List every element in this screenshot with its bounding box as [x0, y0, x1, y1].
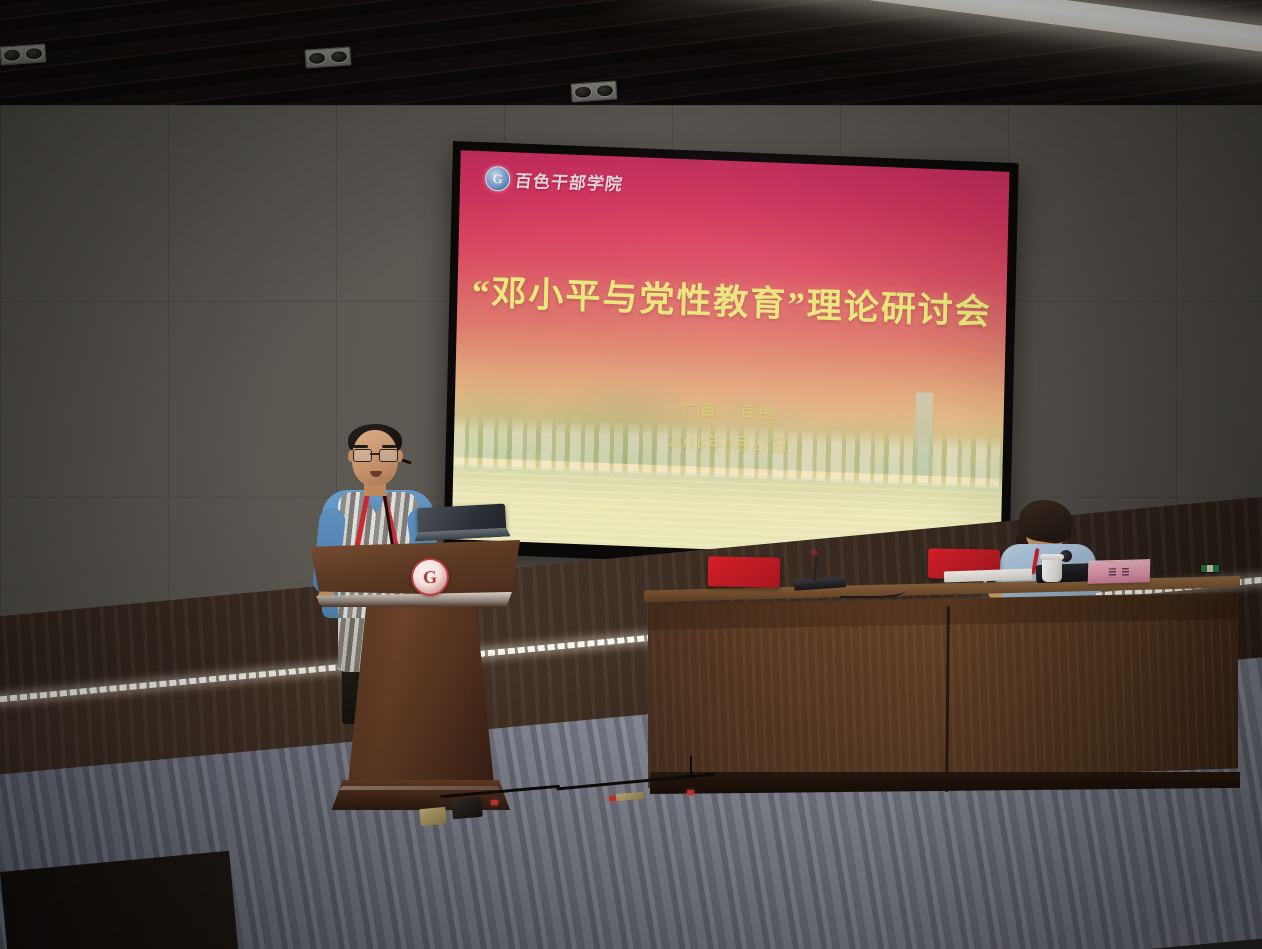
downlight-2: [304, 46, 351, 68]
mic-capsule-icon: [810, 549, 819, 558]
slide-tower-building: [914, 393, 933, 476]
red-chair-left: [708, 556, 781, 587]
projection-screen: G 百色干部学院 “邓小平与党性教育”理论研讨会 广西 · 百色 2018年9月…: [443, 141, 1018, 575]
head-table: [644, 576, 1240, 798]
lectern: G: [306, 540, 524, 830]
academy-name-text: 百色干部学院: [513, 166, 624, 194]
papers-on-desk: [944, 568, 1032, 582]
gold-plate: [419, 807, 446, 826]
presenter-brow-right: [382, 445, 397, 448]
slide-title-suffix: 理论研讨会: [806, 286, 992, 332]
desk-base-skirt: [650, 772, 1240, 794]
slide-title: “邓小平与党性教育”理论研讨会: [457, 263, 1007, 336]
cable-run-3: [690, 756, 722, 780]
mic-cable: [840, 582, 906, 598]
slide-logo: G 百色干部学院: [485, 165, 623, 194]
lectern-trim: [316, 592, 512, 607]
cup-lid: [1040, 554, 1064, 560]
lectern-base: [328, 780, 510, 810]
name-card-glyph-2: [1122, 567, 1129, 576]
glasses-lens-right: [379, 449, 398, 462]
presenter-brow-left: [353, 445, 368, 448]
lectern-column: [342, 604, 494, 784]
downlight-3: [570, 80, 617, 102]
slide-title-quoted: “邓小平与党性教育”: [472, 273, 808, 325]
white-cup: [1042, 558, 1062, 582]
name-card: [1088, 559, 1151, 584]
lectern-base-trim: [332, 786, 506, 790]
academy-crest-icon: G: [485, 165, 510, 191]
laptop-on-podium: [413, 504, 507, 549]
name-card-glyph-1: [1109, 568, 1116, 577]
red-indicator-1: [491, 800, 498, 805]
control-panel-indicator: [1200, 564, 1220, 573]
conference-hall-photo: G 百色干部学院 “邓小平与党性教育”理论研讨会 广西 · 百色 2018年9月…: [0, 0, 1262, 949]
red-indicator-2: [609, 796, 616, 801]
red-indicator-3: [687, 790, 694, 795]
glasses-icon: [352, 449, 398, 461]
glasses-bridge: [370, 453, 379, 455]
downlight-1: [0, 43, 47, 65]
projected-slide: G 百色干部学院 “邓小平与党性教育”理论研讨会 广西 · 百色 2018年9月…: [452, 150, 1010, 560]
amplifier-box: [451, 797, 483, 820]
glasses-lens-left: [353, 449, 372, 462]
